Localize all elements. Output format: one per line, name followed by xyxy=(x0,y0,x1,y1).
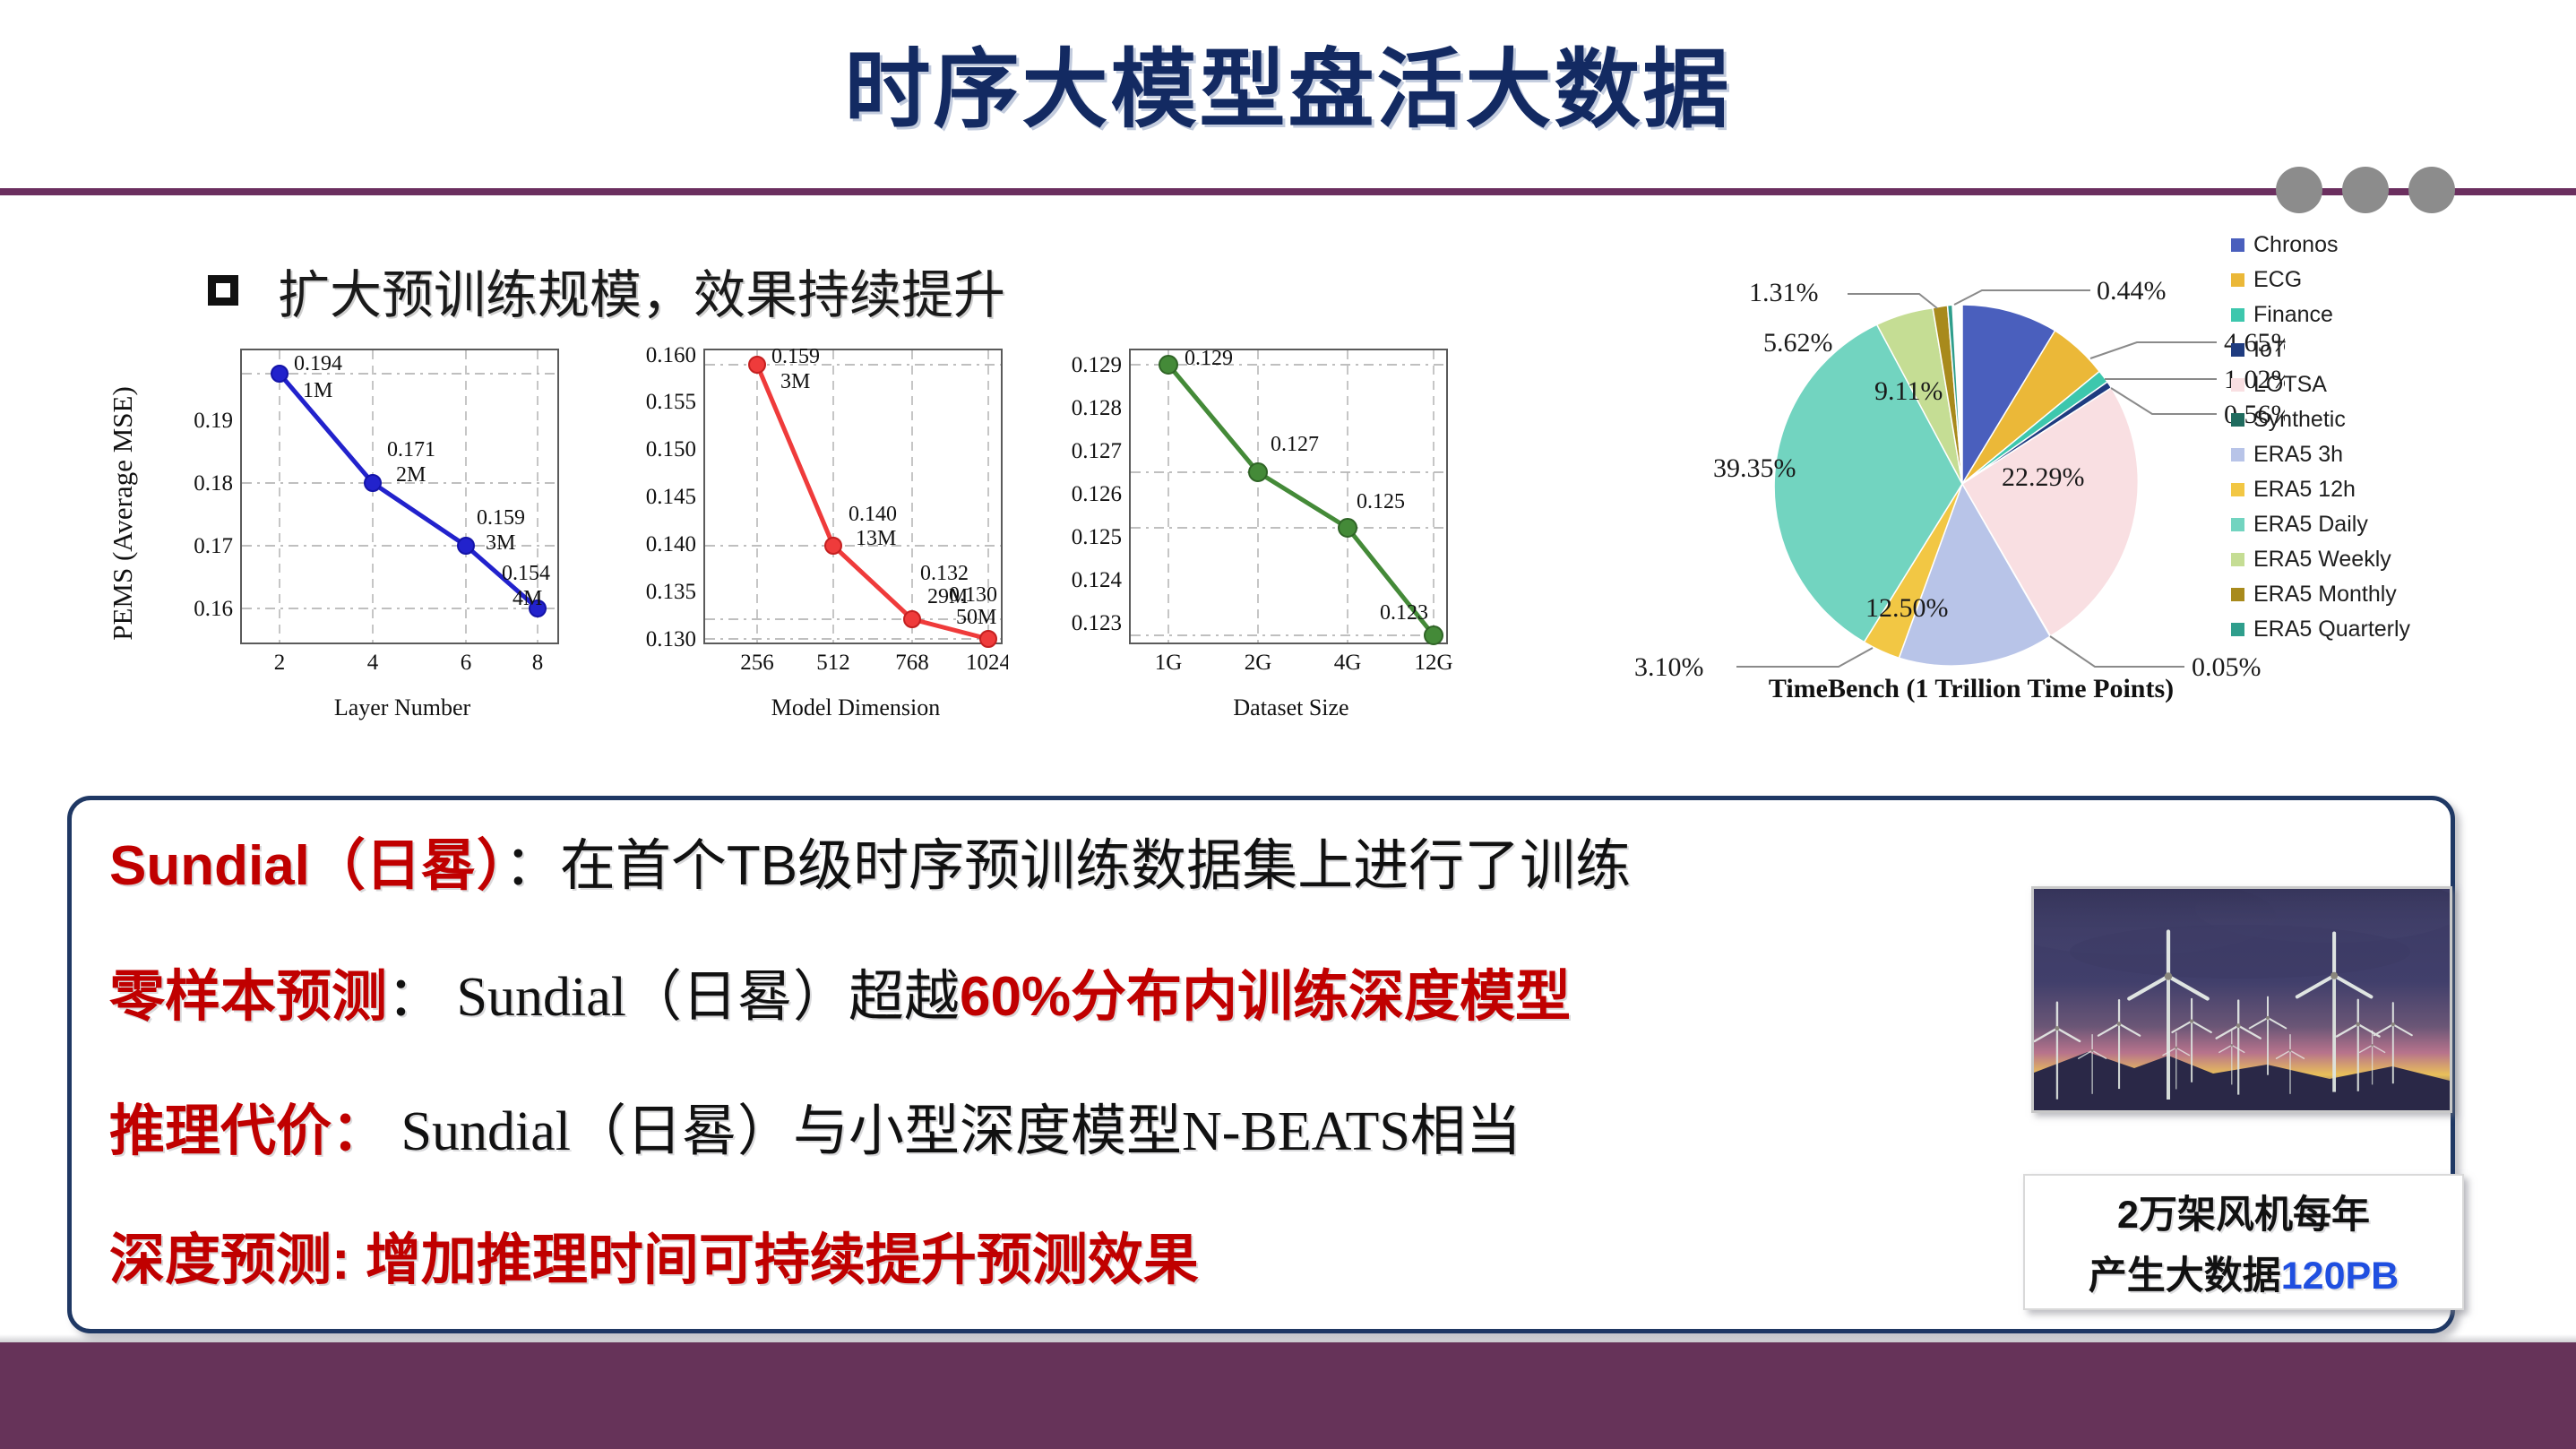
summary-line-1: Sundial（日晷）：在首个TB级时序预训练数据集上进行了训练 xyxy=(109,820,1631,901)
chart1-svg: 0.19 0.18 0.17 0.16 xyxy=(143,345,564,721)
chart3-xtick-3: 12G xyxy=(1414,651,1452,675)
summary-line-4: 深度预测: 增加推理时间可持续提升预测效果 xyxy=(109,1214,1199,1295)
chart1-xtick-1: 4 xyxy=(367,651,379,675)
summary-line-2-red-1: 零样本预测 xyxy=(109,966,387,1028)
chart1-param-label-0: 1M xyxy=(303,379,332,402)
summary-line-3-red: 推理代价： xyxy=(109,1100,387,1162)
decoration-dot-1 xyxy=(2276,167,2322,213)
pie-label-era5-quarterly: 0.44% xyxy=(2097,276,2167,306)
chart3-xtick-0: 1G xyxy=(1155,651,1183,675)
chart3-ytick-4: 0.125 xyxy=(1072,525,1122,549)
chart2-ytick-0: 0.160 xyxy=(646,345,696,367)
chart3-point-label-3: 0.123 xyxy=(1380,601,1428,625)
section-heading-label: 扩大预训练规模，效果持续提升 xyxy=(278,253,1005,328)
chart2-ytick-5: 0.135 xyxy=(646,580,696,604)
summary-line-2-red-2: 60%分布内训练深度模型 xyxy=(960,966,1571,1028)
summary-line-1-red: Sundial（日晷） xyxy=(109,835,504,897)
legend-item-era5-weekly[interactable]: ERA5 Weekly xyxy=(2231,542,2527,577)
chart-model-dimension: 0.160 0.155 0.150 0.145 0.140 0.135 0.13… xyxy=(587,345,1008,721)
pie-label-era5-monthly: 1.31% xyxy=(1749,278,1819,307)
line-charts-row: PEMS (Average MSE) 0.19 0.18 0.17 0.16 xyxy=(90,345,1469,721)
chart2-xtick-1: 512 xyxy=(816,651,850,675)
chart2-point-label-3: 0.130 xyxy=(949,583,997,607)
chart1-ytick-3: 0.16 xyxy=(194,597,233,621)
chart2-point-label-1: 0.140 xyxy=(849,503,897,526)
pie-chart-caption: TimeBench (1 Trillion Time Points) xyxy=(1711,674,2231,704)
legend-item-chronos[interactable]: Chronos xyxy=(2231,228,2527,263)
legend-swatch-icon xyxy=(2231,413,2244,427)
chart3-ytick-0: 0.129 xyxy=(1072,353,1122,377)
legend-swatch-icon xyxy=(2231,623,2244,636)
chart2-ytick-3: 0.145 xyxy=(646,485,696,509)
chart1-point-label-1: 0.171 xyxy=(387,438,435,461)
chart3-point-label-0: 0.129 xyxy=(1185,347,1233,370)
header-decoration-dots xyxy=(2276,167,2455,217)
caption-line-2-value: 120PB xyxy=(2281,1255,2399,1298)
legend-swatch-icon xyxy=(2231,378,2244,392)
caption-line-2-prefix: 产生大数据 xyxy=(2089,1255,2281,1298)
summary-line-2: 零样本预测： Sundial（日晷）超越60%分布内训练深度模型 xyxy=(109,951,1571,1031)
legend-item-synthetic[interactable]: Synthetic xyxy=(2231,402,2527,437)
legend-swatch-icon xyxy=(2231,518,2244,531)
footer-bar xyxy=(0,1342,2576,1449)
wind-turbine-illustration xyxy=(2034,889,2450,1110)
chart-layer-number: 0.19 0.18 0.17 0.16 xyxy=(143,345,564,721)
legend-item-lotsa[interactable]: LOTSA xyxy=(2231,367,2527,402)
pie-label-era5-12h: 3.10% xyxy=(1634,652,1704,681)
summary-line-3: 推理代价： Sundial（日晷）与小型深度模型N-BEATS相当 xyxy=(109,1085,1521,1166)
shared-y-axis-label: PEMS (Average MSE) xyxy=(90,363,143,686)
chart1-param-label-1: 2M xyxy=(396,463,426,487)
legend-swatch-icon xyxy=(2231,273,2244,287)
legend-item-era5-3h[interactable]: ERA5 3h xyxy=(2231,437,2527,472)
chart3-point-label-1: 0.127 xyxy=(1271,433,1319,456)
chart3-ytick-6: 0.123 xyxy=(1072,611,1122,635)
square-bullet-icon xyxy=(208,275,238,306)
legend-item-iot[interactable]: IoT xyxy=(2231,332,2527,367)
chart3-ytick-3: 0.126 xyxy=(1072,482,1122,506)
pie-label-era5-daily: 39.35% xyxy=(1713,453,1796,483)
chart1-ytick-0: 0.19 xyxy=(194,409,233,433)
chart2-ytick-6: 0.130 xyxy=(646,627,696,651)
caption-line-1: 2万架风机每年 xyxy=(2117,1184,2370,1239)
legend-item-era5-quarterly[interactable]: ERA5 Quarterly xyxy=(2231,612,2527,647)
chart2-svg: 0.160 0.155 0.150 0.145 0.140 0.135 0.13… xyxy=(587,345,1008,721)
legend-swatch-icon xyxy=(2231,553,2244,566)
chart1-point-label-3: 0.154 xyxy=(502,562,550,585)
legend-item-era5-daily[interactable]: ERA5 Daily xyxy=(2231,507,2527,542)
summary-line-1-black: ：在首个TB级时序预训练数据集上进行了训练 xyxy=(504,835,1631,897)
chart3-xtick-2: 4G xyxy=(1334,651,1362,675)
chart1-ytick-2: 0.17 xyxy=(194,534,233,558)
summary-line-3-black: Sundial（日晷）与小型深度模型N-BEATS相当 xyxy=(387,1101,1521,1162)
chart1-param-label-2: 3M xyxy=(486,531,515,555)
legend-item-ecg[interactable]: ECG xyxy=(2231,263,2527,298)
chart1-param-label-3: 4M xyxy=(513,587,542,610)
chart2-xtick-2: 768 xyxy=(895,651,929,675)
chart1-point-label-0: 0.194 xyxy=(294,352,342,375)
pie-legend: Chronos ECG Finance IoT LOTSA Synthetic … xyxy=(2231,228,2527,647)
chart-timebench-pie: 9.11% 4.65% 1.02% 0.56% 22.29% 0.05% 12.… xyxy=(1604,215,2545,726)
chart3-ytick-2: 0.127 xyxy=(1072,439,1122,463)
chart3-x-axis-label: Dataset Size xyxy=(1032,694,1453,721)
chart3-point-label-2: 0.125 xyxy=(1357,490,1405,513)
legend-swatch-icon xyxy=(2231,588,2244,601)
footer-shadow xyxy=(0,1334,2576,1342)
chart3-svg: 0.129 0.128 0.127 0.126 0.125 0.124 0.12… xyxy=(1032,345,1453,721)
decoration-dot-3 xyxy=(2408,167,2455,213)
legend-swatch-icon xyxy=(2231,238,2244,252)
legend-swatch-icon xyxy=(2231,308,2244,322)
page-title: 时序大模型盘活大数据 xyxy=(0,20,2576,144)
chart2-ytick-4: 0.140 xyxy=(646,532,696,556)
pie-label-era5-weekly: 5.62% xyxy=(1763,328,1833,358)
legend-swatch-icon xyxy=(2231,448,2244,461)
chart1-xtick-3: 8 xyxy=(532,651,544,675)
summary-line-2-black: ： Sundial（日晷）超越 xyxy=(387,967,960,1028)
chart2-x-axis-label: Model Dimension xyxy=(587,694,1008,721)
chart-dataset-size: 0.129 0.128 0.127 0.126 0.125 0.124 0.12… xyxy=(1032,345,1453,721)
chart2-param-label-1: 13M xyxy=(856,527,896,550)
chart1-point-label-2: 0.159 xyxy=(477,506,525,530)
legend-item-finance[interactable]: Finance xyxy=(2231,298,2527,332)
legend-item-era5-12h[interactable]: ERA5 12h xyxy=(2231,472,2527,507)
section-heading: 扩大预训练规模，效果持续提升 xyxy=(208,253,1005,328)
chart2-param-label-3: 50M xyxy=(956,606,996,629)
chart2-point-label-0: 0.159 xyxy=(771,345,820,368)
pie-label-chronos: 9.11% xyxy=(1874,376,1943,406)
pie-label-lotsa: 22.29% xyxy=(2002,462,2085,492)
wind-turbine-photo xyxy=(2031,886,2452,1113)
decoration-dot-2 xyxy=(2342,167,2389,213)
legend-swatch-icon xyxy=(2231,343,2244,357)
header-divider xyxy=(0,188,2576,195)
legend-item-era5-monthly[interactable]: ERA5 Monthly xyxy=(2231,577,2527,612)
chart1-x-axis-label: Layer Number xyxy=(143,694,564,721)
chart1-xtick-2: 6 xyxy=(461,651,472,675)
chart2-xtick-0: 256 xyxy=(740,651,774,675)
chart3-ytick-1: 0.128 xyxy=(1072,396,1122,420)
legend-swatch-icon xyxy=(2231,483,2244,496)
chart2-ytick-2: 0.150 xyxy=(646,437,696,461)
chart3-xtick-1: 2G xyxy=(1245,651,1272,675)
photo-caption-box: 2万架风机每年 产生大数据120PB xyxy=(2023,1174,2464,1310)
summary-line-4-red: 深度预测: 增加推理时间可持续提升预测效果 xyxy=(109,1229,1199,1291)
caption-line-2: 产生大数据120PB xyxy=(2089,1245,2399,1300)
pie-label-era5-3h: 12.50% xyxy=(1865,593,1949,623)
chart2-point-label-2: 0.132 xyxy=(920,562,969,585)
chart3-ytick-5: 0.124 xyxy=(1072,568,1123,592)
chart2-xtick-3: 1024 xyxy=(966,651,1008,675)
pie-svg: 9.11% 4.65% 1.02% 0.56% 22.29% 0.05% 12.… xyxy=(1604,215,2285,681)
chart2-param-label-0: 3M xyxy=(780,370,810,393)
chart2-ytick-1: 0.155 xyxy=(646,390,696,414)
chart1-xtick-0: 2 xyxy=(274,651,286,675)
chart1-ytick-1: 0.18 xyxy=(194,471,233,496)
